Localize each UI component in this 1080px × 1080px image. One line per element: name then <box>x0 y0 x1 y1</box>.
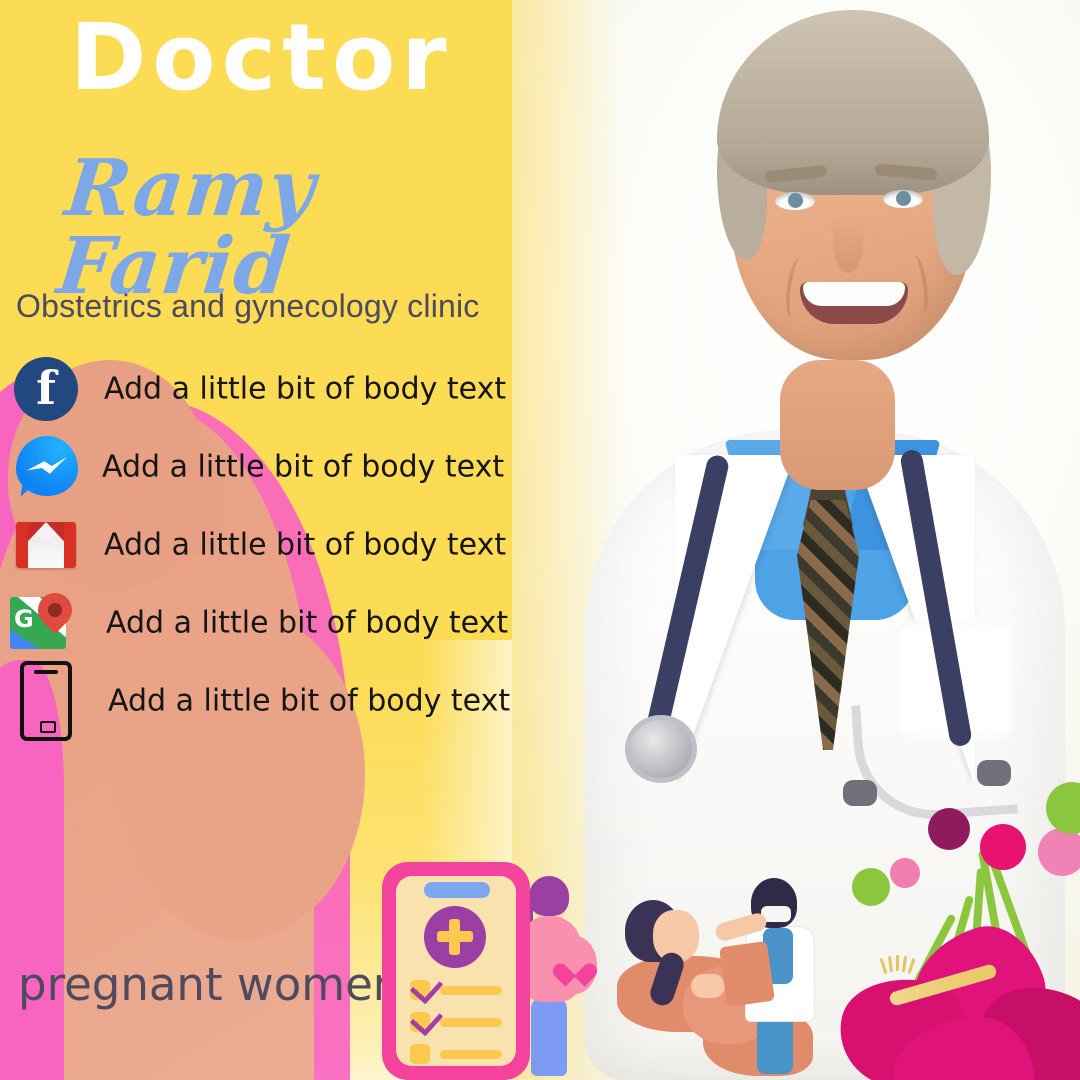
woman-legs <box>531 998 567 1076</box>
checklist-item <box>410 980 510 1000</box>
contact-row-gmail[interactable]: Add a little bit of body text <box>0 506 512 584</box>
gmail-right-band <box>64 522 76 568</box>
doctor-name: Ramy Farid <box>54 150 490 306</box>
gmail-icon[interactable] <box>16 522 76 568</box>
checklist-line <box>440 1018 502 1027</box>
facebook-icon[interactable]: f <box>14 357 78 421</box>
contact-label: Add a little bit of body text <box>104 372 506 407</box>
medical-clipboard-icon <box>382 862 530 1080</box>
contact-row-maps[interactable]: G Add a little bit of body text <box>0 584 512 662</box>
checklist-line <box>440 986 502 995</box>
flower-dot <box>928 808 970 850</box>
contact-label: Add a little bit of body text <box>106 606 508 641</box>
checklist-item <box>410 1012 510 1032</box>
google-g-glyph: G <box>14 605 34 633</box>
hibiscus-flower-decoration <box>828 782 1080 1080</box>
plus-vertical <box>449 919 460 955</box>
contact-row-messenger[interactable]: Add a little bit of body text <box>0 428 512 506</box>
phone-home-button <box>40 721 56 733</box>
patient-hand <box>691 974 725 998</box>
doctor-clipboard-small <box>719 941 775 1007</box>
smartphone-icon[interactable] <box>20 661 72 741</box>
contact-label: Add a little bit of body text <box>108 684 510 719</box>
page-title: Doctor <box>70 12 453 104</box>
mouth <box>800 282 908 324</box>
pupil-right <box>896 191 911 206</box>
checklist-line <box>440 1050 502 1059</box>
pupil-left <box>788 193 803 208</box>
flower-dot <box>890 858 920 888</box>
clipboard-clip <box>424 882 490 898</box>
clinic-subtitle: Obstetrics and gynecology clinic <box>16 288 480 325</box>
flower-dot <box>852 868 890 906</box>
messenger-icon[interactable] <box>16 436 78 498</box>
heart-icon <box>561 954 589 980</box>
contact-label: Add a little bit of body text <box>104 528 506 563</box>
flower-dot <box>1038 828 1080 876</box>
flower-stigma <box>880 958 916 992</box>
stethoscope-chestpiece <box>625 715 697 783</box>
woman-hair <box>529 876 569 916</box>
bottom-illustrations <box>505 870 835 1080</box>
phone-speaker <box>34 670 58 674</box>
contact-list: f Add a little bit of body text Add a li… <box>0 350 512 740</box>
facebook-glyph: f <box>14 357 78 421</box>
gmail-left-band <box>16 522 28 568</box>
clipboard-page <box>396 876 516 1066</box>
contact-row-facebook[interactable]: f Add a little bit of body text <box>0 350 512 428</box>
teeth <box>803 282 905 306</box>
flower-dot <box>980 824 1026 870</box>
contact-label: Add a little bit of body text <box>102 450 504 485</box>
hair-top <box>717 10 989 195</box>
flower-dot <box>1046 782 1080 834</box>
contact-row-phone[interactable]: Add a little bit of body text <box>0 662 512 740</box>
google-maps-icon[interactable]: G <box>10 593 76 653</box>
footer-label: pregnant women <box>18 958 401 1011</box>
checklist-item <box>410 1044 510 1064</box>
nose <box>833 215 863 273</box>
checkbox <box>410 1044 430 1064</box>
neck <box>780 360 895 490</box>
poster-canvas: Doctor Ramy Farid Obstetrics and gynecol… <box>0 0 1080 1080</box>
